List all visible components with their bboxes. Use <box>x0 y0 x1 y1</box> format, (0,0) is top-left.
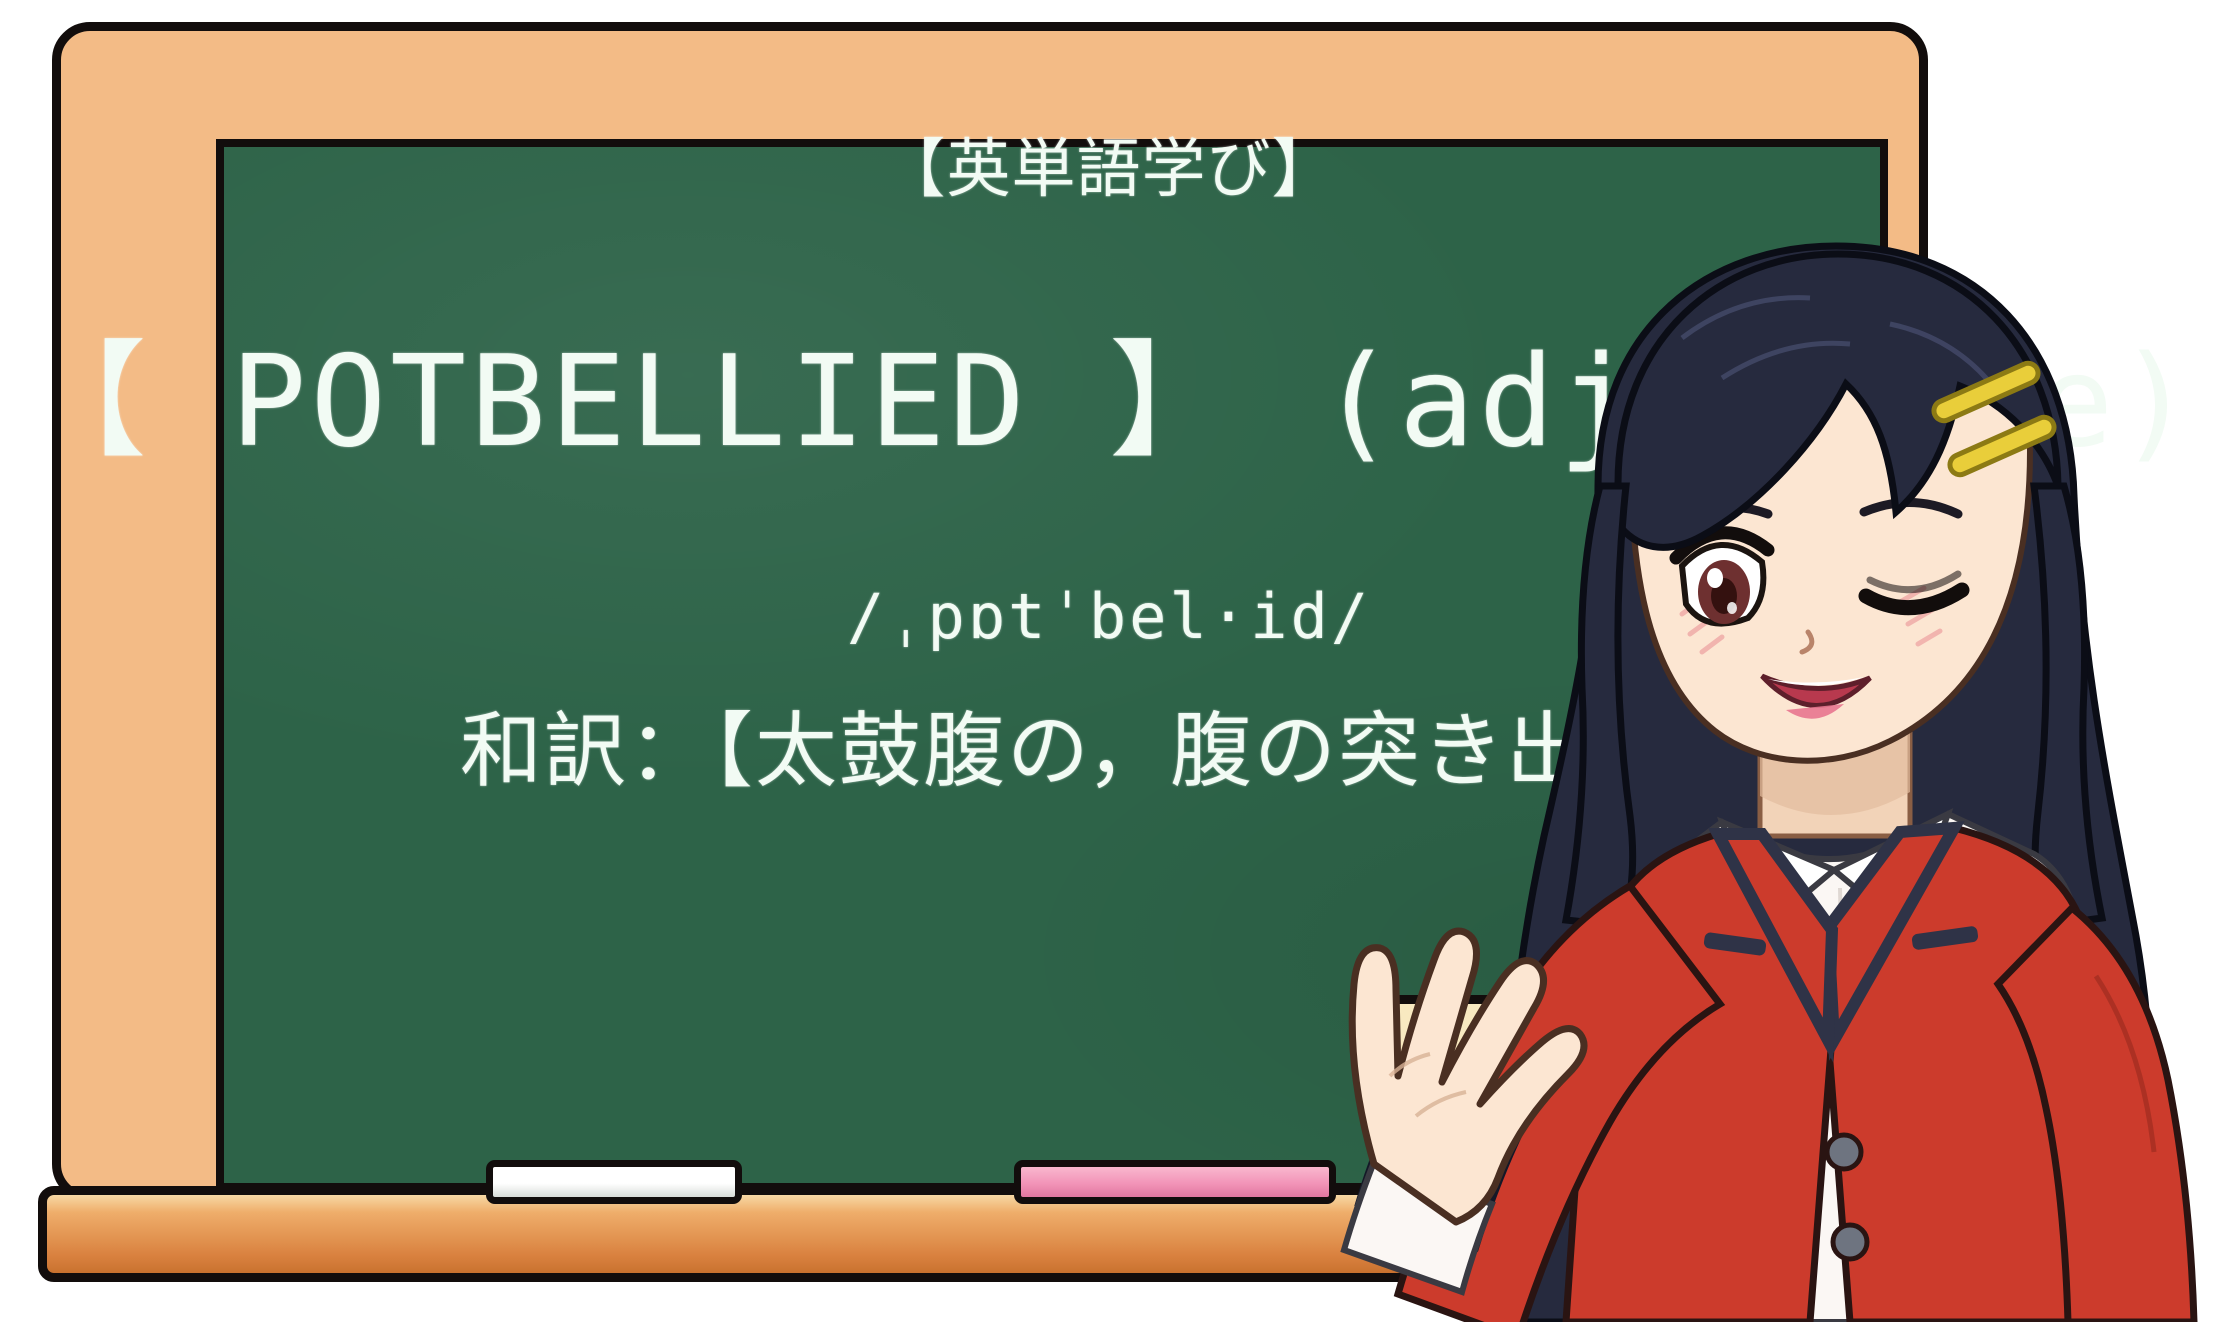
board-japanese-translation: 和訳：【太鼓腹の，腹の突き出た】 <box>0 684 2218 803</box>
eraser-band <box>1555 1004 1641 1168</box>
board-word-line: 【 POTBELLIED 】 (adjective) <box>0 300 2218 482</box>
blackboard-scene: 【英単語学び】 【 POTBELLIED 】 (adjective) /ˌpɒt… <box>0 0 2218 1322</box>
board-title: 【英単語学び】 <box>0 118 2218 210</box>
pink-chalk <box>1014 1160 1336 1204</box>
lowered-arm <box>1998 908 2194 1322</box>
board-pronunciation: /ˌpɒtˈbel·id/ <box>0 580 2218 653</box>
white-chalk <box>486 1160 742 1204</box>
blackboard-eraser <box>1374 995 1722 1177</box>
chalk-tray <box>38 1186 1938 1282</box>
